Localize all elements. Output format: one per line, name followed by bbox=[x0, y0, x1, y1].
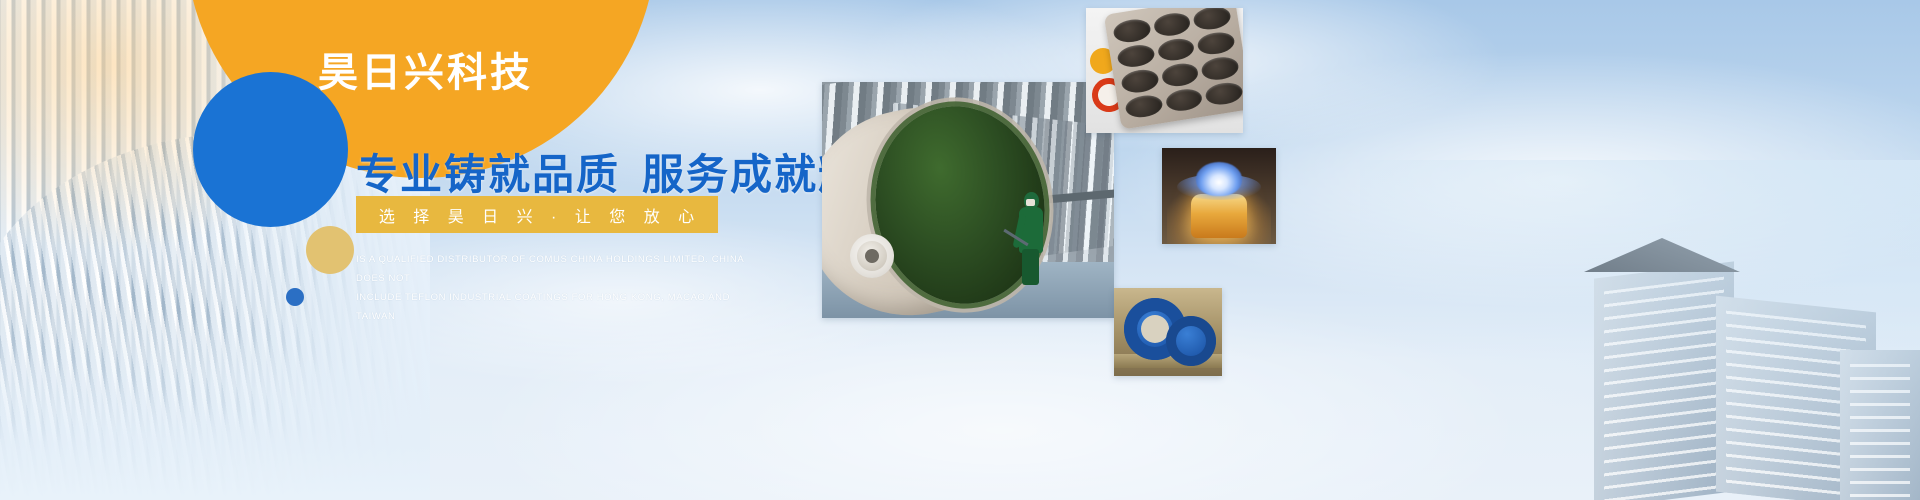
slogan-text: 选 择 昊 日 兴 · 让 您 放 心 bbox=[373, 203, 701, 227]
photo-flame-spray-coating bbox=[1162, 148, 1276, 244]
worker-legs bbox=[1022, 249, 1039, 285]
flame-core bbox=[1196, 162, 1242, 196]
english-disclaimer: IS A QUALIFIED DISTRIBUTOR OF COMUS CHIN… bbox=[356, 250, 756, 326]
muffin-cup bbox=[1200, 55, 1240, 82]
muffin-cup bbox=[1116, 42, 1156, 69]
slogan-bar: 选 择 昊 日 兴 · 让 您 放 心 bbox=[356, 196, 718, 233]
factory-scene bbox=[822, 82, 1114, 318]
muffin-cup bbox=[1192, 8, 1232, 31]
muffin-cup bbox=[1196, 30, 1236, 57]
english-line-1: IS A QUALIFIED DISTRIBUTOR OF COMUS CHIN… bbox=[356, 250, 756, 288]
small-blue-dot-shape bbox=[286, 288, 304, 306]
photo-blue-coated-flange bbox=[1114, 288, 1222, 376]
muffin-cup bbox=[1152, 11, 1192, 38]
muffin-cups-grid bbox=[1112, 8, 1243, 120]
muffin-cup bbox=[1160, 61, 1200, 88]
promo-banner: 昊日兴科技 专业铸就品质服务成就辉煌 选 择 昊 日 兴 · 让 您 放 心 I… bbox=[0, 0, 1920, 500]
muffin-tray-pan bbox=[1104, 8, 1243, 130]
blue-circle-shape bbox=[193, 72, 348, 227]
company-brand-name: 昊日兴科技 bbox=[318, 53, 533, 93]
photo-factory-tank-coating bbox=[822, 82, 1114, 318]
muffin-cup bbox=[1156, 36, 1196, 63]
glowing-workpiece bbox=[1191, 194, 1247, 238]
muffin-cup bbox=[1120, 67, 1160, 94]
english-line-2: INCLUDE TEFLON INDUSTRIAL COATINGS FOR H… bbox=[356, 288, 756, 326]
tan-dot-shape bbox=[306, 226, 354, 274]
worker-in-green-suit bbox=[1018, 192, 1044, 288]
muffin-cup bbox=[1112, 17, 1152, 44]
left-photo-bottom-fade bbox=[0, 310, 430, 500]
muffin-cup bbox=[1124, 93, 1164, 120]
photo-nonstick-muffin-tray bbox=[1086, 8, 1243, 133]
headline-part-one: 专业铸就品质 bbox=[356, 151, 620, 198]
blue-flange-ring-secondary bbox=[1166, 316, 1216, 366]
vessel-nozzle-flange bbox=[850, 234, 894, 278]
muffin-cup bbox=[1164, 86, 1204, 113]
worker-mask bbox=[1026, 199, 1035, 206]
muffin-cup bbox=[1204, 80, 1243, 107]
right-haze-overlay bbox=[1360, 160, 1920, 500]
